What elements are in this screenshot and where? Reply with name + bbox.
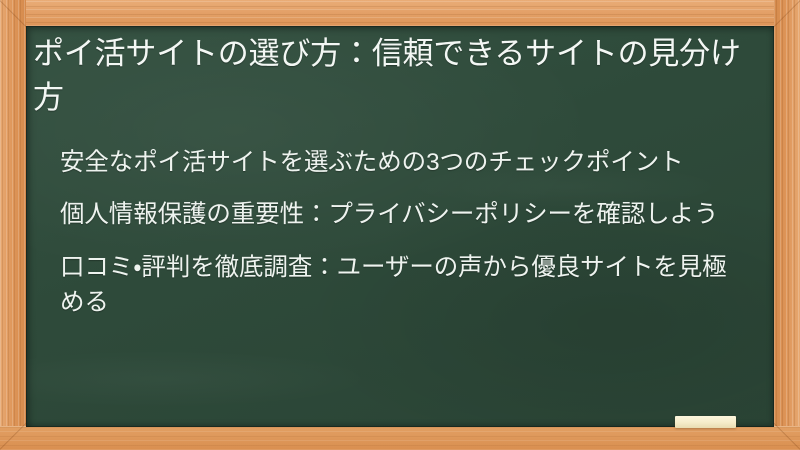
chalkboard: ポイ活サイトの選び方：信頼できるサイトの見分け方 安全なポイ活サイトを選ぶための…	[26, 26, 774, 427]
bullet-item-3: 口コミ・評判を徹底調査：ユーザーの声から優良サイトを見極める	[60, 250, 732, 321]
slide-title: ポイ活サイトの選び方：信頼できるサイトの見分け方	[33, 32, 756, 120]
bullet-list: 安全なポイ活サイトを選ぶための3つのチェックポイント 個人情報保護の重要性：プラ…	[33, 145, 756, 320]
frame-top-rail	[0, 0, 800, 26]
chalkboard-content: ポイ活サイトの選び方：信頼できるサイトの見分け方 安全なポイ活サイトを選ぶための…	[26, 26, 774, 427]
slide-stage: ポイ活サイトの選び方：信頼できるサイトの見分け方 安全なポイ活サイトを選ぶための…	[0, 0, 800, 450]
frame-right-stile	[774, 0, 800, 450]
frame-bottom-ledge	[0, 426, 800, 450]
bullet-item-2: 個人情報保護の重要性：プライバシーポリシーを確認しよう	[60, 197, 732, 232]
bullet-item-1: 安全なポイ活サイトを選ぶための3つのチェックポイント	[60, 145, 732, 180]
frame-left-stile	[0, 0, 26, 450]
chalk-stick	[675, 416, 736, 428]
